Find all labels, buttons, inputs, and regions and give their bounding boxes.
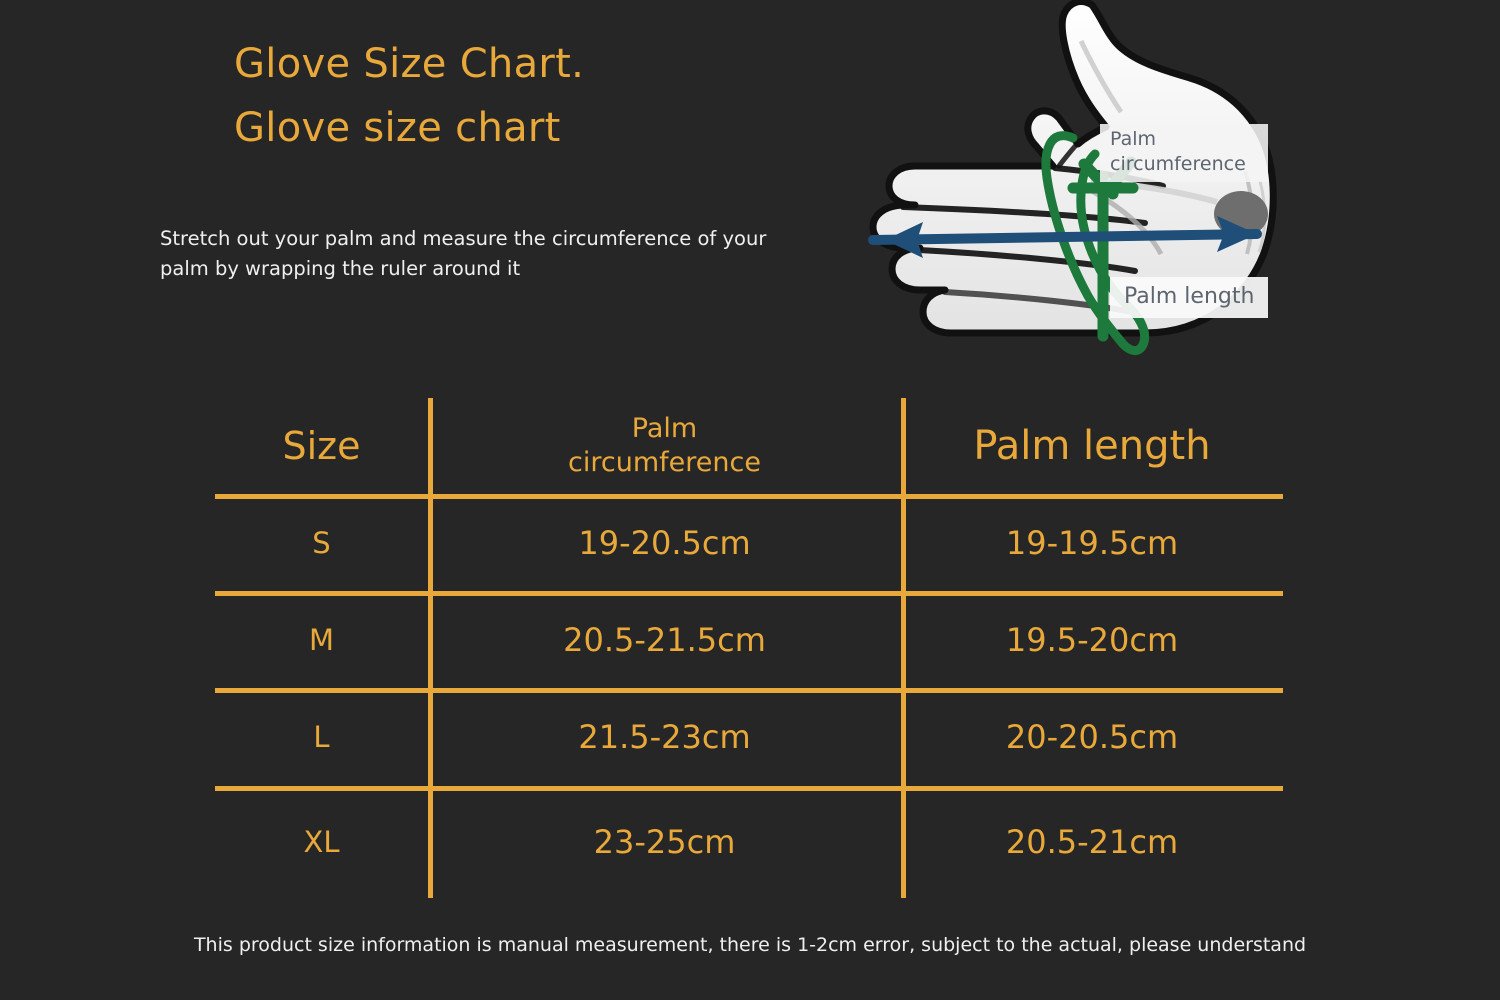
cell-size: L bbox=[215, 688, 428, 785]
title-line-secondary: Glove size chart bbox=[234, 96, 584, 160]
cell-palm-length: 20.5-21cm bbox=[901, 786, 1283, 898]
glove-size-chart-page: Glove Size Chart. Glove size chart Stret… bbox=[0, 0, 1500, 1000]
table-row: XL 23-25cm 20.5-21cm bbox=[215, 786, 1283, 898]
title-line-english: Glove Size Chart. bbox=[234, 32, 584, 96]
header-circumference-line1: Palm bbox=[632, 412, 697, 446]
table-row: M 20.5-21.5cm 19.5-20cm bbox=[215, 591, 1283, 688]
hand-measurement-illustration bbox=[845, 0, 1305, 388]
cell-palm-length: 20-20.5cm bbox=[901, 688, 1283, 785]
measurement-disclaimer: This product size information is manual … bbox=[0, 934, 1500, 956]
hand-diagram-svg bbox=[845, 0, 1305, 388]
cell-size: M bbox=[215, 591, 428, 688]
cell-palm-circumference: 23-25cm bbox=[428, 786, 901, 898]
header-cell-palm-length: Palm length bbox=[901, 398, 1283, 494]
page-title: Glove Size Chart. Glove size chart bbox=[234, 32, 584, 160]
table-header-row: Size Palm circumference Palm length bbox=[215, 398, 1283, 494]
cell-palm-length: 19-19.5cm bbox=[901, 494, 1283, 591]
cell-size: XL bbox=[215, 786, 428, 898]
size-table: Size Palm circumference Palm length S 19… bbox=[215, 398, 1283, 898]
cell-palm-circumference: 19-20.5cm bbox=[428, 494, 901, 591]
cell-palm-length: 19.5-20cm bbox=[901, 591, 1283, 688]
measurement-instruction: Stretch out your palm and measure the ci… bbox=[160, 224, 820, 284]
header-cell-size: Size bbox=[215, 398, 428, 494]
table-row: S 19-20.5cm 19-19.5cm bbox=[215, 494, 1283, 591]
cell-palm-circumference: 20.5-21.5cm bbox=[428, 591, 901, 688]
palm-circumference-label: Palm circumference bbox=[1100, 124, 1268, 182]
palm-length-label: Palm length bbox=[1110, 277, 1268, 318]
header-circumference-line2: circumference bbox=[568, 446, 761, 480]
cell-palm-circumference: 21.5-23cm bbox=[428, 688, 901, 785]
header-cell-palm-circumference: Palm circumference bbox=[428, 398, 901, 494]
table-row: L 21.5-23cm 20-20.5cm bbox=[215, 688, 1283, 785]
cell-size: S bbox=[215, 494, 428, 591]
